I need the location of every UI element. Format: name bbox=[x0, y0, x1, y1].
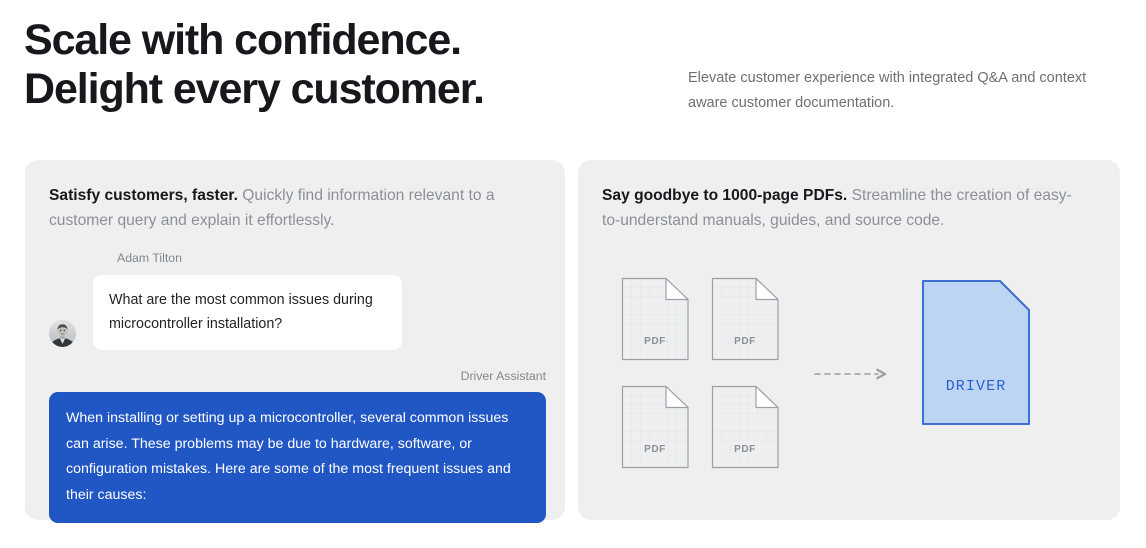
card-satisfy-customers: Satisfy customers, faster. Quickly find … bbox=[25, 160, 565, 520]
page-title-line-1: Scale with confidence. bbox=[24, 16, 664, 65]
pdf-to-driver-diagram: PDF PDF PDF bbox=[602, 268, 1096, 498]
svg-text:PDF: PDF bbox=[734, 336, 756, 347]
card-right-heading-bold: Say goodbye to 1000-page PDFs. bbox=[602, 187, 847, 204]
chat-transcript: Adam Tilton bbox=[49, 250, 549, 523]
page-root: Scale with confidence. Delight every cus… bbox=[0, 0, 1146, 548]
svg-text:PDF: PDF bbox=[644, 336, 666, 347]
hero-section: Scale with confidence. Delight every cus… bbox=[0, 0, 1146, 150]
pdf-document-icon-3: PDF bbox=[623, 387, 689, 468]
svg-text:DRIVER: DRIVER bbox=[946, 378, 1007, 395]
avatar bbox=[49, 320, 76, 347]
pdf-document-icon-2: PDF bbox=[713, 279, 779, 360]
card-left-heading: Satisfy customers, faster. Quickly find … bbox=[49, 184, 539, 233]
page-title: Scale with confidence. Delight every cus… bbox=[24, 16, 664, 114]
chat-assistant-name: Driver Assistant bbox=[49, 368, 546, 384]
card-right-heading: Say goodbye to 1000-page PDFs. Streamlin… bbox=[602, 184, 1072, 233]
page-subtitle: Elevate customer experience with integra… bbox=[688, 66, 1108, 116]
chat-message-user-row: What are the most common issues during m… bbox=[49, 275, 549, 350]
pdf-document-icon-4: PDF bbox=[713, 387, 779, 468]
chat-bubble-user: What are the most common issues during m… bbox=[93, 275, 402, 350]
card-goodbye-pdfs: Say goodbye to 1000-page PDFs. Streamlin… bbox=[578, 160, 1120, 520]
card-left-heading-bold: Satisfy customers, faster. bbox=[49, 187, 238, 204]
svg-text:PDF: PDF bbox=[734, 444, 756, 455]
chat-user-name: Adam Tilton bbox=[117, 250, 549, 266]
driver-output-shape: DRIVER bbox=[923, 281, 1029, 424]
pdf-document-icon-1: PDF bbox=[623, 279, 689, 360]
svg-text:PDF: PDF bbox=[644, 444, 666, 455]
chat-bubble-assistant: When installing or setting up a microcon… bbox=[49, 392, 546, 523]
page-title-line-2: Delight every customer. bbox=[24, 65, 664, 114]
